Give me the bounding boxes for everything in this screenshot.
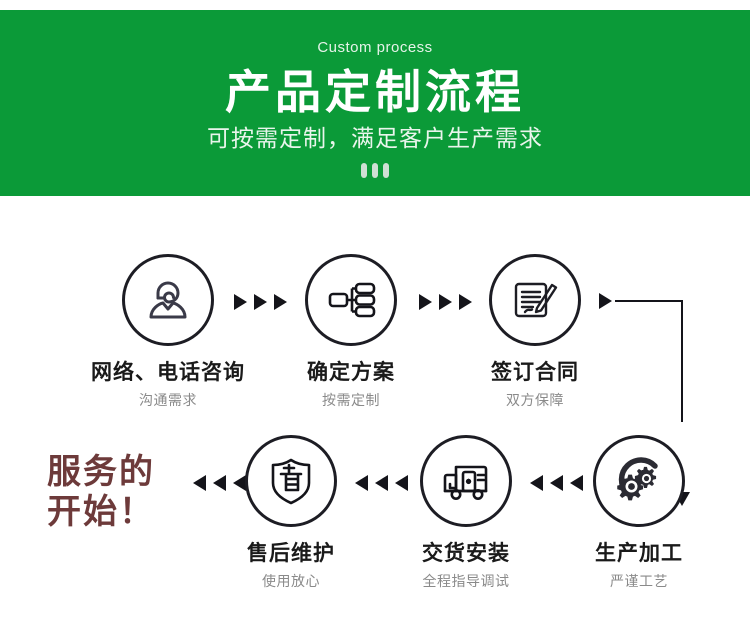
banner-dots-decoration bbox=[361, 163, 389, 178]
after-sales-shield-icon bbox=[264, 454, 318, 508]
step-subtitle: 严谨工艺 bbox=[554, 574, 724, 588]
connector-horizontal-line bbox=[615, 300, 683, 302]
step-title: 交货安装 bbox=[381, 543, 551, 564]
dot-bar-1 bbox=[361, 163, 367, 178]
triangle-left-icon bbox=[355, 475, 368, 491]
triangle-right-icon bbox=[419, 294, 432, 310]
consultant-person-icon bbox=[140, 272, 196, 328]
step-title: 网络、电话咨询 bbox=[83, 362, 253, 383]
step-delivery[interactable]: 交货安装 全程指导调试 bbox=[381, 435, 551, 588]
step-title: 生产加工 bbox=[554, 543, 724, 564]
dot-bar-3 bbox=[383, 163, 389, 178]
elbow-connector bbox=[599, 286, 689, 436]
dot-bar-2 bbox=[372, 163, 378, 178]
step-icon-circle bbox=[489, 254, 581, 346]
step-title: 确定方案 bbox=[266, 362, 436, 383]
service-start-label: 服务的 开始！ bbox=[47, 452, 155, 532]
step-icon-circle bbox=[420, 435, 512, 527]
gears-production-icon bbox=[610, 452, 668, 510]
step-icon-circle bbox=[122, 254, 214, 346]
delivery-truck-icon bbox=[438, 453, 494, 509]
service-start-line2: 开始！ bbox=[47, 492, 155, 532]
page-title: 产品定制流程 bbox=[225, 68, 525, 116]
banner-subtitle: 可按需定制，满足客户生产需求 bbox=[207, 127, 543, 150]
connector-vertical-line bbox=[681, 300, 683, 422]
step-subtitle: 双方保障 bbox=[450, 393, 620, 407]
banner-eyebrow: Custom process bbox=[317, 40, 432, 55]
plan-orgchart-icon bbox=[323, 272, 379, 328]
triangle-left-icon bbox=[193, 475, 206, 491]
step-after-sales[interactable]: 售后维护 使用放心 bbox=[206, 435, 376, 588]
step-subtitle: 按需定制 bbox=[266, 393, 436, 407]
step-icon-circle bbox=[593, 435, 685, 527]
step-contract[interactable]: 签订合同 双方保障 bbox=[450, 254, 620, 407]
process-flow: 网络、电话咨询 沟通需求 确定方案 按需 bbox=[0, 196, 750, 634]
step-plan[interactable]: 确定方案 按需定制 bbox=[266, 254, 436, 407]
step-subtitle: 全程指导调试 bbox=[381, 574, 551, 588]
contract-signing-icon bbox=[507, 272, 563, 328]
custom-process-infographic: Custom process 产品定制流程 可按需定制，满足客户生产需求 网络、… bbox=[0, 0, 750, 634]
step-title: 签订合同 bbox=[450, 362, 620, 383]
step-icon-circle bbox=[305, 254, 397, 346]
step-title: 售后维护 bbox=[206, 543, 376, 564]
triangle-left-icon bbox=[530, 475, 543, 491]
header-banner: Custom process 产品定制流程 可按需定制，满足客户生产需求 bbox=[0, 10, 750, 196]
step-production[interactable]: 生产加工 严谨工艺 bbox=[554, 435, 724, 588]
service-start-line1: 服务的 bbox=[47, 452, 155, 492]
step-subtitle: 使用放心 bbox=[206, 574, 376, 588]
triangle-right-icon bbox=[599, 293, 612, 309]
step-subtitle: 沟通需求 bbox=[83, 393, 253, 407]
step-icon-circle bbox=[245, 435, 337, 527]
triangle-right-icon bbox=[234, 294, 247, 310]
step-consultation[interactable]: 网络、电话咨询 沟通需求 bbox=[83, 254, 253, 407]
